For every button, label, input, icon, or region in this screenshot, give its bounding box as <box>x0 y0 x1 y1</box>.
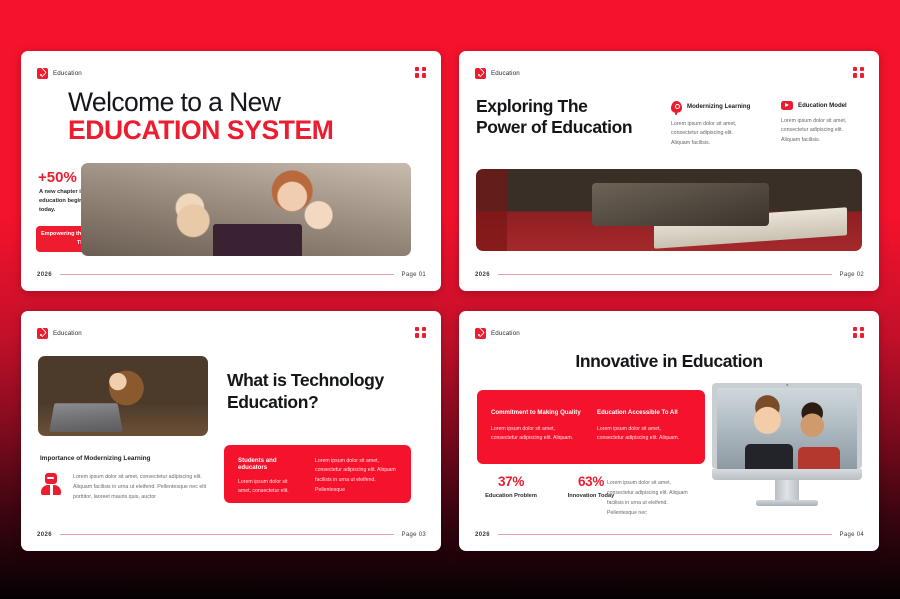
slide-3-year: 2026 <box>37 532 52 538</box>
slide-4-monitor <box>712 383 862 511</box>
slide-4-page-label: Page 04 <box>840 532 864 538</box>
slide-2-title: Exploring The Power of Education <box>476 96 632 140</box>
slide-4-year: 2026 <box>475 532 490 538</box>
slide-3-title-line-1: What is Technology <box>227 369 427 391</box>
footer-divider <box>498 534 832 535</box>
slide-4-card: Commitment to Making Quality Lorem ipsum… <box>477 390 705 464</box>
slide-4-card-1-body: Lorem ipsum dolor sit amet, consectetur … <box>491 425 583 445</box>
slide-3-footer: 2026 Page 03 <box>37 532 426 538</box>
slide-1-title-line-1: Welcome to a New <box>68 89 280 117</box>
slide-4-stat-1-value: 37% <box>484 474 538 489</box>
grid-2x2-icon[interactable] <box>415 67 426 78</box>
slide-4-footer: 2026 Page 04 <box>475 532 864 538</box>
slide-2-feature-1-title: Modernizing Learning <box>687 103 750 110</box>
slide-4-stat-1: 37% Education Problem <box>484 474 538 501</box>
slide-4-stats: 37% Education Problem 63% Innovation Tod… <box>484 474 618 501</box>
footer-divider <box>60 534 394 535</box>
brand-label: Education <box>53 330 82 337</box>
slide-3-title-line-2: Education? <box>227 391 427 413</box>
slide-4-card-column-2: Education Accessible To All Lorem ipsum … <box>597 409 689 445</box>
slide-4-note: Lorem ipsum dolor sit amet, consectetur … <box>607 478 699 519</box>
slide-4-stat-1-caption: Education Problem <box>484 492 538 501</box>
slide-2-title-line-1: Exploring The <box>476 96 632 118</box>
slide-3-page-label: Page 03 <box>402 532 426 538</box>
brand-logo: Education <box>475 328 520 339</box>
slide-2-page-label: Page 02 <box>840 272 864 278</box>
slide-3-card-title: Students and educators <box>238 457 301 471</box>
slide-1-page-label: Page 01 <box>402 272 426 278</box>
slide-3-section-label: Importance of Modernizing Learning <box>40 455 150 462</box>
brand-label: Education <box>491 330 520 337</box>
person-speech-icon <box>41 473 61 495</box>
slide-2-feature-2-title: Education Model <box>798 102 847 109</box>
slide-2-year: 2026 <box>475 272 490 278</box>
slide-4-card-2-body: Lorem ipsum dolor sit amet, consectetur … <box>597 425 689 445</box>
rss-square-icon <box>37 68 48 79</box>
slide-3[interactable]: Education What is Technology Education? … <box>21 311 441 551</box>
play-button-icon <box>781 101 793 110</box>
slide-4-card-column-1: Commitment to Making Quality Lorem ipsum… <box>491 409 583 445</box>
slide-4[interactable]: Education Innovative in Education Commit… <box>459 311 879 551</box>
webcam-icon <box>786 384 788 386</box>
slide-3-title: What is Technology Education? <box>227 369 427 413</box>
slide-2-footer: 2026 Page 02 <box>475 272 864 278</box>
slide-deck-grid: Education Welcome to a New EDUCATION SYS… <box>0 0 900 599</box>
slide-3-card-body-right: Lorem ipsum dolor sit amet, consectetur … <box>315 457 397 497</box>
pin-badge-icon <box>671 101 682 113</box>
slide-1-photo <box>81 163 411 256</box>
rss-square-icon <box>37 328 48 339</box>
slide-3-card: Students and educators Lorem ipsum dolor… <box>224 445 411 503</box>
slide-1-stat-percent: +50% <box>38 169 77 186</box>
grid-2x2-icon[interactable] <box>853 327 864 338</box>
rss-square-icon <box>475 328 486 339</box>
footer-divider <box>498 274 832 275</box>
footer-divider <box>60 274 394 275</box>
slide-1-footer: 2026 Page 01 <box>37 272 426 278</box>
monitor-neck <box>775 480 799 500</box>
monitor-chin <box>712 469 862 480</box>
slide-4-card-1-title: Commitment to Making Quality <box>491 409 583 416</box>
brand-label: Education <box>491 70 520 77</box>
slide-2-feature-list: Modernizing Learning Lorem ipsum dolor s… <box>671 101 863 149</box>
rss-square-icon <box>475 68 486 79</box>
slide-1-title-line-2: EDUCATION SYSTEM <box>68 117 333 145</box>
slide-2-feature-2-body: Lorem ipsum dolor sit amet, consectetur … <box>781 117 863 146</box>
monitor-screen <box>712 383 862 469</box>
monitor-base <box>756 500 818 506</box>
slide-3-photo <box>38 356 208 436</box>
slide-2[interactable]: Education Exploring The Power of Educati… <box>459 51 879 291</box>
brand-logo: Education <box>37 68 82 79</box>
slide-2-feature-1-body: Lorem ipsum dolor sit amet, consectetur … <box>671 120 753 149</box>
brand-logo: Education <box>475 68 520 79</box>
slide-3-section-body: Lorem ipsum dolor sit amet, consectetur … <box>73 472 217 503</box>
slide-3-card-body-left: Lorem ipsum dolor sit amet, consectetur … <box>238 478 301 497</box>
slide-1-year: 2026 <box>37 272 52 278</box>
slide-2-title-line-2: Power of Education <box>476 117 632 139</box>
slide-2-feature-1: Modernizing Learning Lorem ipsum dolor s… <box>671 101 753 149</box>
brand-label: Education <box>53 70 82 77</box>
slide-1[interactable]: Education Welcome to a New EDUCATION SYS… <box>21 51 441 291</box>
slide-4-title: Innovative in Education <box>459 351 879 372</box>
slide-2-feature-2: Education Model Lorem ipsum dolor sit am… <box>781 101 863 149</box>
grid-2x2-icon[interactable] <box>853 67 864 78</box>
grid-2x2-icon[interactable] <box>415 327 426 338</box>
slide-4-card-2-title: Education Accessible To All <box>597 409 689 416</box>
slide-4-photo <box>717 388 857 469</box>
slide-2-photo <box>476 169 862 251</box>
brand-logo: Education <box>37 328 82 339</box>
